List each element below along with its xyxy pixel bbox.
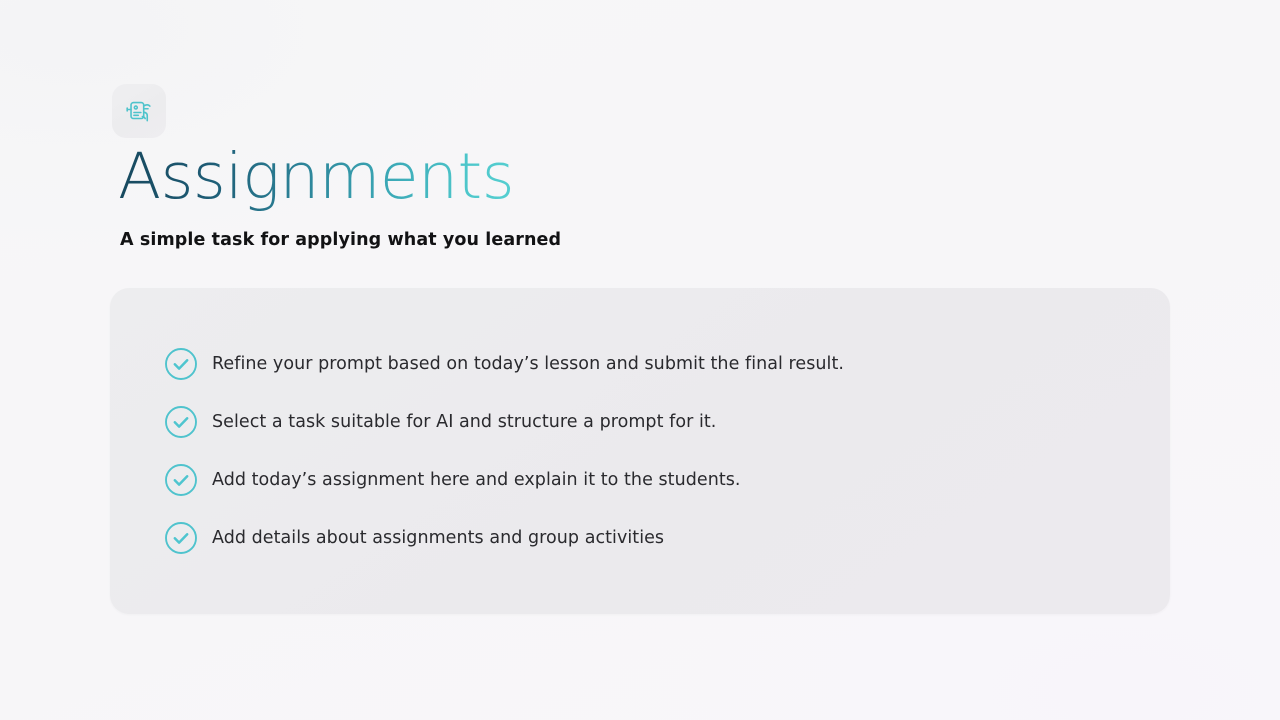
list-item[interactable]: Add details about assignments and group … — [164, 509, 1130, 567]
list-item[interactable]: Add today’s assignment here and explain … — [164, 451, 1130, 509]
page-subtitle: A simple task for applying what you lear… — [120, 230, 561, 250]
list-item-label: Add details about assignments and group … — [212, 527, 664, 550]
check-circle-icon — [164, 521, 198, 555]
check-circle-icon — [164, 405, 198, 439]
list-item[interactable]: Select a task suitable for AI and struct… — [164, 393, 1130, 451]
list-item-label: Select a task suitable for AI and struct… — [212, 411, 716, 434]
slide-root: Assignments A simple task for applying w… — [0, 0, 1280, 720]
list-item[interactable]: Refine your prompt based on today’s less… — [164, 335, 1130, 393]
list-item-label: Refine your prompt based on today’s less… — [212, 353, 844, 376]
check-circle-icon — [164, 463, 198, 497]
check-circle-icon — [164, 347, 198, 381]
assignment-checklist: Refine your prompt based on today’s less… — [164, 335, 1130, 567]
page-title: Assignments — [118, 142, 514, 213]
assignments-card: Refine your prompt based on today’s less… — [110, 288, 1170, 614]
ai-assistant-card-icon — [124, 96, 154, 126]
list-item-label: Add today’s assignment here and explain … — [212, 469, 741, 492]
header-icon-badge — [112, 84, 166, 138]
